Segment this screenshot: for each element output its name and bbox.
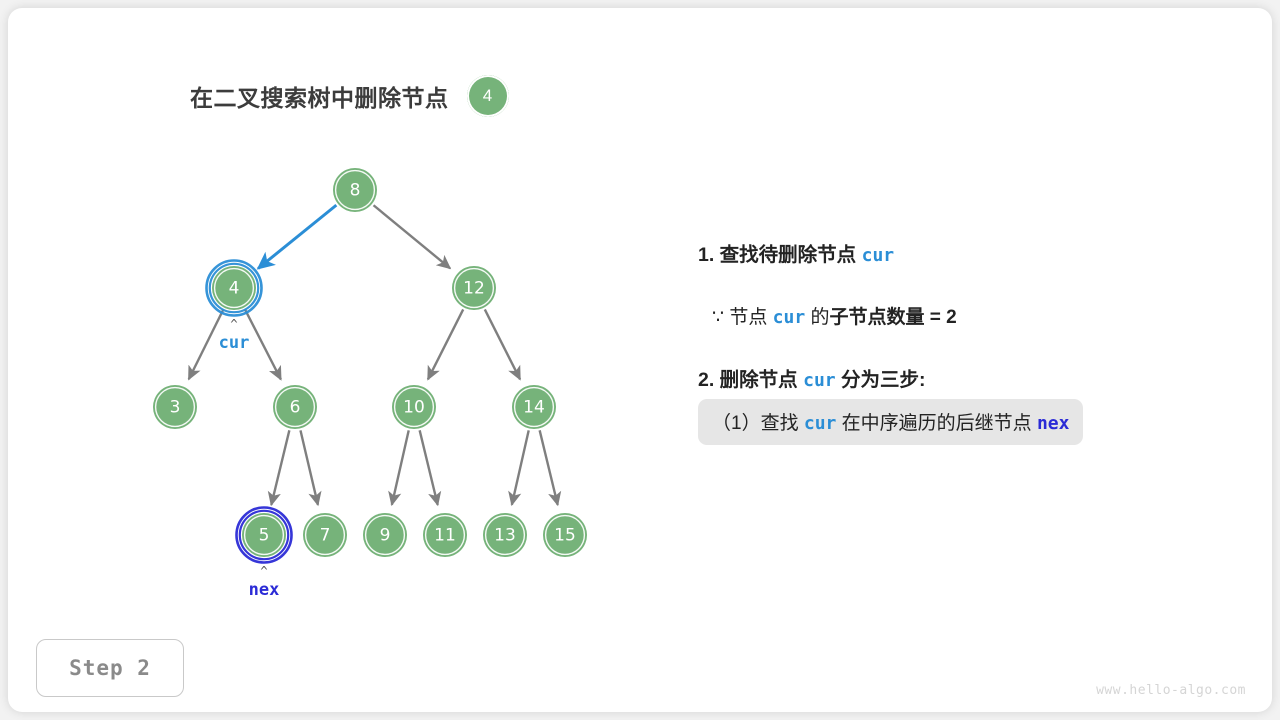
panel-substep1-var-cur: cur: [804, 413, 837, 434]
tree-edge-8-12: [374, 205, 451, 268]
tree-edge-8-4: [258, 205, 336, 268]
tree-node-9: 9: [363, 513, 407, 557]
panel-step2-line: 2. 删除节点 cur 分为三步:: [698, 371, 1218, 391]
tree-edge-6-7: [300, 430, 317, 504]
panel-reason-part2: 的: [805, 307, 829, 328]
node-value-label: 9: [380, 526, 391, 546]
tree-node-4: 4: [207, 261, 262, 316]
panel-step1-prefix: 1. 查找待删除节点: [698, 244, 862, 266]
tree-edge-14-15: [540, 430, 558, 505]
tree-node-6: 6: [273, 385, 317, 429]
pointer-caret-cur: ^: [230, 317, 237, 331]
panel-substep1-part2: 在中序遍历的后继节点: [836, 413, 1037, 434]
node-value-label: 5: [259, 526, 270, 546]
node-value-label: 12: [463, 279, 485, 299]
tree-edge-10-11: [420, 430, 438, 505]
panel-step1-var-cur: cur: [862, 245, 895, 266]
explanation-panel: 1. 查找待删除节点 cur ∵ 节点 cur 的子节点数量 = 2 2. 删除…: [698, 246, 1218, 445]
panel-reason-bold: 子节点数量: [829, 307, 924, 328]
pointer-label-nex: nex: [249, 580, 280, 600]
panel-substep1-var-nex: nex: [1037, 413, 1070, 434]
panel-reason-eq: =: [924, 307, 946, 328]
tree-node-14: 14: [512, 385, 556, 429]
tree-node-layer: 8412361014579111315: [153, 168, 587, 563]
tree-edge-layer: [189, 205, 558, 505]
tree-node-11: 11: [423, 513, 467, 557]
panel-substep1-index: （1）: [712, 413, 761, 434]
tree-node-5: 5: [237, 508, 292, 563]
panel-step2-var-cur: cur: [803, 370, 836, 391]
tree-edge-12-14: [485, 309, 520, 379]
panel-reason-var-cur: cur: [773, 307, 806, 328]
tree-edge-14-13: [512, 430, 529, 504]
node-value-label: 15: [554, 526, 576, 546]
panel-step1-line: 1. 查找待删除节点 cur: [698, 246, 1218, 266]
panel-reason-value: 2: [946, 307, 957, 328]
node-value-label: 8: [350, 181, 361, 201]
watermark: www.hello-algo.com: [1096, 683, 1246, 698]
node-value-label: 10: [403, 398, 425, 418]
node-value-label: 4: [229, 279, 240, 299]
tree-node-8: 8: [333, 168, 377, 212]
tree-node-3: 3: [153, 385, 197, 429]
binary-search-tree-diagram: 8412361014579111315 ^cur^nex: [0, 0, 700, 720]
tree-edge-10-9: [392, 430, 409, 504]
tree-edge-6-5: [271, 430, 289, 505]
node-value-label: 3: [170, 398, 181, 418]
node-value-label: 6: [290, 398, 301, 418]
pointer-caret-nex: ^: [260, 564, 267, 578]
panel-substep1-highlight-box: （1）查找 cur 在中序遍历的后继节点 nex: [698, 399, 1083, 445]
because-symbol: ∵: [712, 307, 724, 328]
panel-step2-prefix: 2. 删除节点: [698, 369, 803, 391]
step-badge: Step 2: [36, 639, 184, 697]
pointer-label-cur: cur: [219, 333, 250, 353]
node-value-label: 13: [494, 526, 516, 546]
node-value-label: 14: [523, 398, 545, 418]
tree-node-13: 13: [483, 513, 527, 557]
tree-edge-4-6: [245, 309, 281, 379]
tree-node-7: 7: [303, 513, 347, 557]
tree-node-12: 12: [452, 266, 496, 310]
node-value-label: 11: [434, 526, 456, 546]
panel-reason-part1: 节点: [729, 307, 772, 328]
tree-node-15: 15: [543, 513, 587, 557]
panel-substep1-part1: 查找: [761, 413, 804, 434]
panel-step2-suffix: 分为三步:: [836, 369, 926, 391]
panel-reason-line: ∵ 节点 cur 的子节点数量 = 2: [698, 308, 1218, 327]
step-badge-label: Step 2: [69, 656, 151, 680]
node-value-label: 7: [320, 526, 331, 546]
screenshot-stage: 在二叉搜索树中删除节点 4 8412361014579111315 ^cur^n…: [0, 0, 1280, 720]
tree-node-10: 10: [392, 385, 436, 429]
tree-edge-12-10: [428, 309, 463, 379]
